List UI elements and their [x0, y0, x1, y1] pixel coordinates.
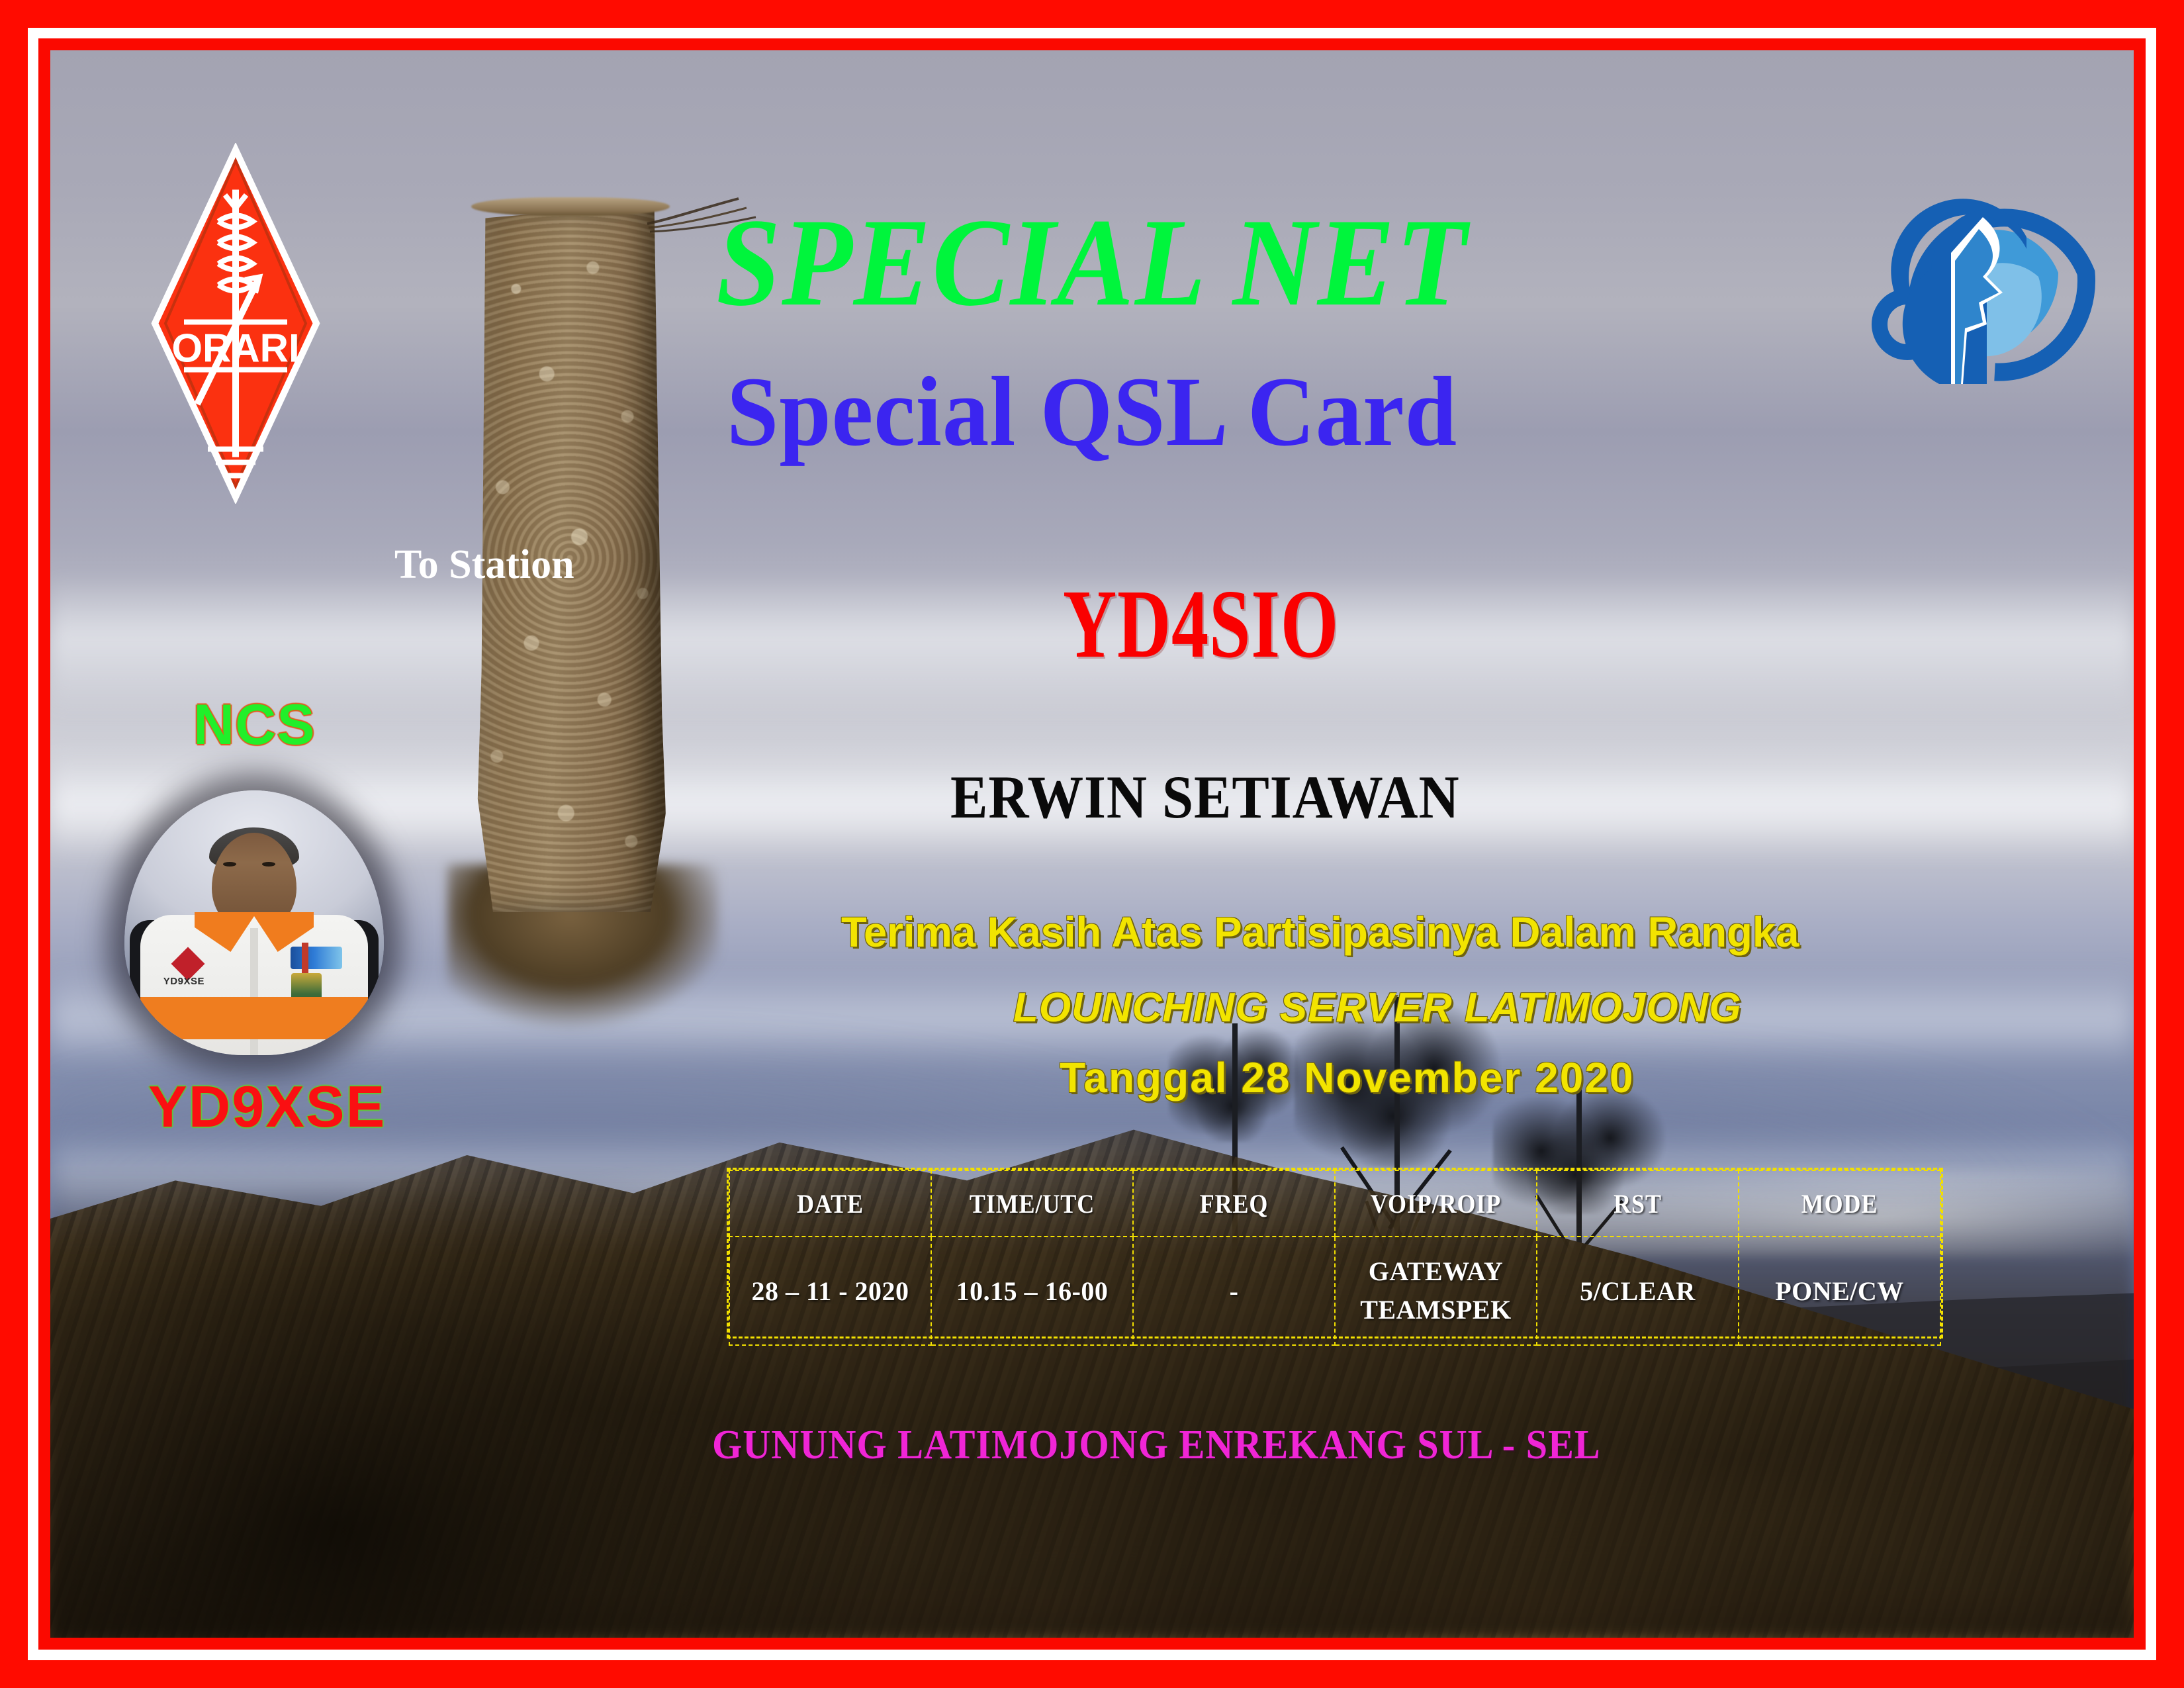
event-date-line: Tanggal 28 November 2020	[1060, 1056, 1635, 1099]
qsl-card: ORARI	[0, 0, 2184, 1688]
operator-chest-logo	[291, 947, 342, 969]
table-header-rst: RST	[1547, 1170, 1729, 1237]
table-header-mode: MODE	[1749, 1170, 1931, 1237]
ncs-label: NCS	[193, 692, 316, 758]
card-title-main: SPECIAL NET	[134, 191, 2050, 335]
card-background-photo: ORARI	[50, 50, 2134, 1638]
operator-eye-left	[223, 862, 236, 867]
table-header-freq: FREQ	[1143, 1170, 1325, 1237]
table-cell-time: 10.15 – 16-00	[931, 1237, 1133, 1345]
table-cell-freq: -	[1133, 1237, 1335, 1345]
operator-shirt-orange-band	[140, 997, 369, 1039]
table-header-time: TIME/UTC	[941, 1170, 1123, 1237]
table-header-row: DATE TIME/UTC FREQ VOIP/ROIP RST MODE	[729, 1170, 1940, 1237]
table-cell-voip-roip: GATEWAY TEAMSPEK	[1335, 1237, 1537, 1345]
table-cell-rst: 5/CLEAR	[1537, 1237, 1739, 1345]
card-title-sub: Special QSL Card	[113, 355, 2071, 469]
qso-log-table: DATE TIME/UTC FREQ VOIP/ROIP RST MODE 28…	[727, 1168, 1943, 1338]
table-cell-voip-line1: GATEWAY	[1336, 1252, 1535, 1291]
table-header-voip-roip: VOIP/ROIP	[1345, 1170, 1527, 1237]
table-cell-voip-line2: TEAMSPEK	[1336, 1291, 1535, 1329]
thanks-line: Terima Kasih Atas Partisipasinya Dalam R…	[841, 911, 1799, 953]
table-cell-date: 28 – 11 - 2020	[729, 1237, 931, 1345]
location-line: GUNUNG LATIMOJONG ENREKANG SUL - SEL	[712, 1422, 1601, 1469]
to-station-label: To Station	[394, 541, 574, 588]
operator-shirt-callsign: YD9XSE	[163, 976, 205, 987]
operator-eye-right	[262, 862, 275, 867]
table-cell-mode: PONE/CW	[1739, 1237, 1940, 1345]
table-row: 28 – 11 - 2020 10.15 – 16-00 - GATEWAY T…	[729, 1237, 1940, 1345]
station-callsign: YD4SIO	[1063, 568, 1339, 680]
event-line: LOUNCHING SERVER LATIMOJONG	[1013, 988, 1742, 1029]
table-header-date: DATE	[739, 1170, 921, 1237]
operator-name: ERWIN SETIAWAN	[950, 762, 1460, 832]
ncs-callsign: YD9XSE	[148, 1073, 386, 1141]
